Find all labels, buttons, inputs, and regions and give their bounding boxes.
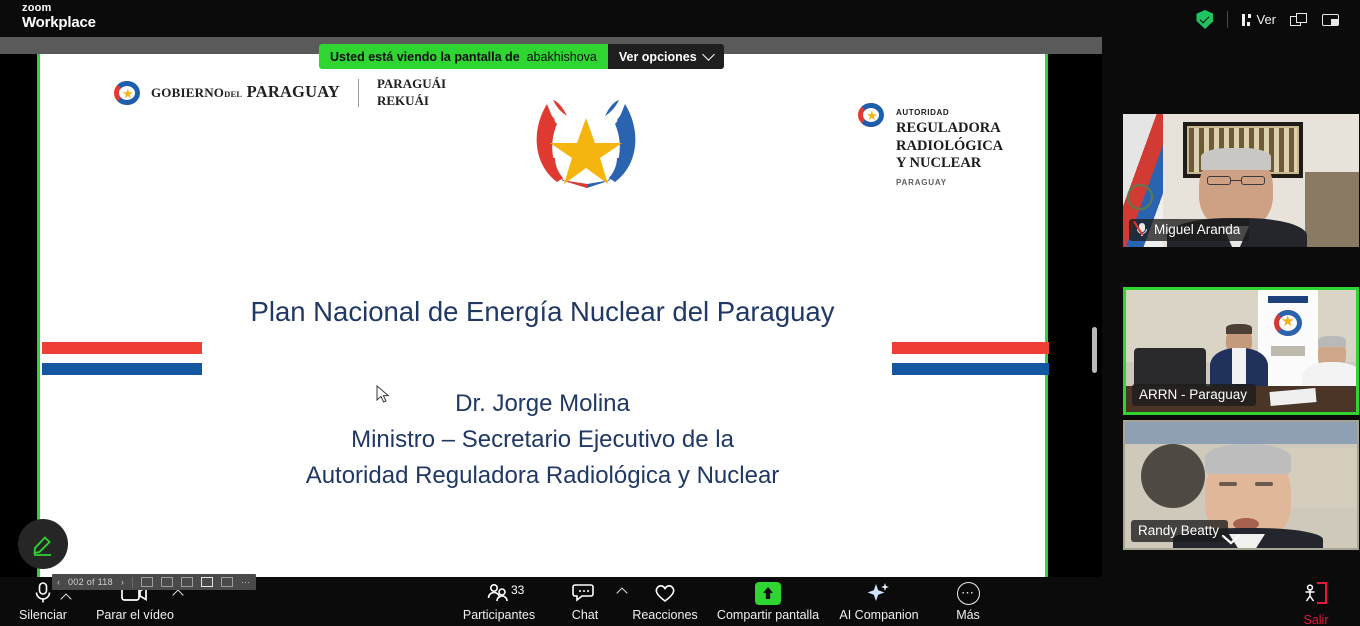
arrn-line1: REGULADORA	[896, 120, 1001, 136]
camera-icon[interactable]	[201, 577, 213, 587]
titlebar-controls: Ver	[1196, 10, 1340, 29]
zoom-meeting-window: zoom Workplace Ver ★ GOBIER	[0, 0, 1360, 626]
mic-muted-icon	[1136, 222, 1148, 237]
view-layout-button[interactable]: Ver	[1242, 12, 1276, 27]
ai-companion-label: AI Companion	[839, 608, 918, 622]
flag-bar-blue	[42, 363, 202, 375]
ai-sparkle-icon	[865, 581, 893, 605]
chevron-down-icon	[702, 48, 715, 61]
more-button[interactable]: ⋯ Más	[913, 581, 1023, 622]
arrn-line3: Y NUCLEAR	[896, 155, 981, 171]
mouse-pointer-icon	[376, 385, 390, 405]
window-title-bar: zoom Workplace Ver	[0, 0, 1360, 37]
share-banner-message: Usted está viendo la pantalla de abakhis…	[319, 44, 608, 69]
gobierno-text: GOBIERNODEL PARAGUAY	[151, 84, 340, 101]
video-tile-arrn-paraguay[interactable]: ★ ARRN - Paraguay	[1123, 287, 1359, 415]
share-border-right	[1045, 54, 1048, 577]
popout-window-icon[interactable]	[1322, 13, 1340, 27]
view-options-label: Ver opciones	[619, 50, 697, 64]
slide-page-indicator: 002 of 118	[68, 577, 113, 587]
more-options-icon[interactable]: ⋯	[241, 577, 251, 588]
tile-nameplate: ARRN - Paraguay	[1132, 384, 1256, 406]
annotate-button[interactable]	[18, 519, 68, 569]
flag-bar-red	[42, 342, 202, 354]
layout-view-icon	[1242, 14, 1251, 26]
more-ellipsis-icon: ⋯	[957, 581, 980, 605]
flag-bars-left	[42, 342, 202, 375]
gov-line2: PARAGUAY	[247, 82, 340, 101]
share-banner-text: Usted está viendo la pantalla de	[330, 50, 520, 64]
minimize-window-icon[interactable]	[1290, 13, 1308, 27]
flag-bar-blue	[892, 363, 1049, 375]
arrn-emblem-icon: ★	[858, 102, 886, 128]
paraguay-emblem-icon: ★	[114, 80, 142, 106]
video-tile-randy-beatty[interactable]: Randy Beatty	[1123, 420, 1359, 550]
participant-video-strip: Miguel Aranda ★	[1102, 37, 1360, 577]
brand-workplace: Workplace	[22, 15, 96, 30]
arrn-line2: RADIOLÓGICA	[896, 138, 1003, 154]
leave-meeting-button[interactable]: Salir	[1286, 581, 1346, 626]
share-screen-label: Compartir pantalla	[717, 608, 819, 622]
arrn-text: AUTORIDAD REGULADORA RADIOLÓGICA Y NUCLE…	[896, 102, 1003, 189]
share-banner-presenter: abakhishova	[527, 50, 597, 64]
paraguay-coat-of-arms-icon	[527, 94, 645, 189]
guarani-line1: PARAGUÁI	[377, 76, 446, 91]
chevron-down-icon	[1219, 532, 1243, 546]
participant-name: ARRN - Paraguay	[1139, 387, 1247, 402]
chat-bubble-icon	[572, 581, 598, 605]
presenter-slide-toolbar[interactable]: ‹ 002 of 118 › ⋯	[52, 574, 256, 590]
laser-pointer-icon[interactable]	[161, 577, 173, 587]
view-options-button[interactable]: Ver opciones	[608, 44, 724, 69]
guarani-text: PARAGUÁI REKUÁI	[377, 76, 446, 110]
tile-nameplate: Miguel Aranda	[1129, 219, 1249, 241]
logo-divider	[358, 79, 359, 107]
screen-share-banner: Usted está viendo la pantalla de abakhis…	[319, 44, 724, 69]
reactions-label: Reacciones	[632, 608, 697, 622]
participants-icon: 33	[485, 581, 513, 605]
slide-title: Plan Nacional de Energía Nuclear del Par…	[40, 296, 1045, 328]
gov-del: DEL	[224, 89, 242, 99]
zoom-workplace-logo: zoom Workplace	[22, 3, 96, 30]
more-label: Más	[956, 608, 980, 622]
arrn-line4: PARAGUAY	[896, 178, 947, 187]
heart-reaction-icon	[652, 581, 678, 605]
share-screen-icon	[755, 581, 781, 605]
gov-line1: GOBIERNO	[151, 85, 224, 100]
divider	[132, 577, 133, 588]
stop-video-label: Parar el vídeo	[96, 608, 174, 622]
slide-subtitle: Dr. Jorge Molina Ministro – Secretario E…	[40, 386, 1045, 494]
divider	[1227, 11, 1228, 28]
video-tile-miguel-aranda[interactable]: Miguel Aranda	[1123, 114, 1359, 247]
chat-label: Chat	[572, 608, 598, 622]
flag-bars-right	[892, 342, 1049, 375]
reactions-button[interactable]: Reacciones	[610, 581, 720, 622]
leave-label: Salir	[1303, 613, 1328, 626]
mute-label: Silenciar	[19, 608, 67, 622]
subtitle-line: Dr. Jorge Molina	[40, 386, 1045, 422]
shield-check-icon[interactable]	[1196, 10, 1213, 29]
arrn-logo: ★ AUTORIDAD REGULADORA RADIOLÓGICA Y NUC…	[858, 102, 1003, 189]
subtitle-line: Ministro – Secretario Ejecutivo de la	[40, 422, 1045, 458]
subtitle-line: Autoridad Reguladora Radiológica y Nucle…	[40, 458, 1045, 494]
participant-name: Miguel Aranda	[1154, 222, 1240, 237]
gobierno-paraguay-logo: ★ GOBIERNODEL PARAGUAY PARAGUÁI REKUÁI	[114, 76, 446, 110]
slide-scrollbar[interactable]	[1092, 327, 1097, 373]
arrn-line0: AUTORIDAD	[896, 108, 949, 117]
microphone-icon	[32, 581, 54, 605]
flag-bar-red	[892, 342, 1049, 354]
participants-count: 33	[511, 583, 524, 597]
slide-grid-icon[interactable]	[141, 577, 153, 587]
presenter-view-icon[interactable]	[221, 577, 233, 587]
pencil-annotate-icon	[30, 531, 56, 557]
shared-screen-area: ★ GOBIERNODEL PARAGUAY PARAGUÁI REKUÁI	[0, 37, 1102, 577]
view-label: Ver	[1256, 12, 1276, 27]
scroll-down-participants-button[interactable]	[1102, 532, 1360, 551]
participants-label: Participantes	[463, 608, 535, 622]
brand-zoom: zoom	[22, 3, 96, 14]
leave-door-icon	[1302, 581, 1330, 610]
guarani-line2: REKUÁI	[377, 93, 429, 108]
share-screen-button[interactable]: Compartir pantalla	[713, 581, 823, 622]
blank-screen-icon[interactable]	[181, 577, 193, 587]
presentation-slide: ★ GOBIERNODEL PARAGUAY PARAGUÁI REKUÁI	[40, 54, 1045, 577]
chevron-right-icon[interactable]: ›	[121, 577, 124, 587]
chevron-left-icon[interactable]: ‹	[57, 577, 60, 587]
